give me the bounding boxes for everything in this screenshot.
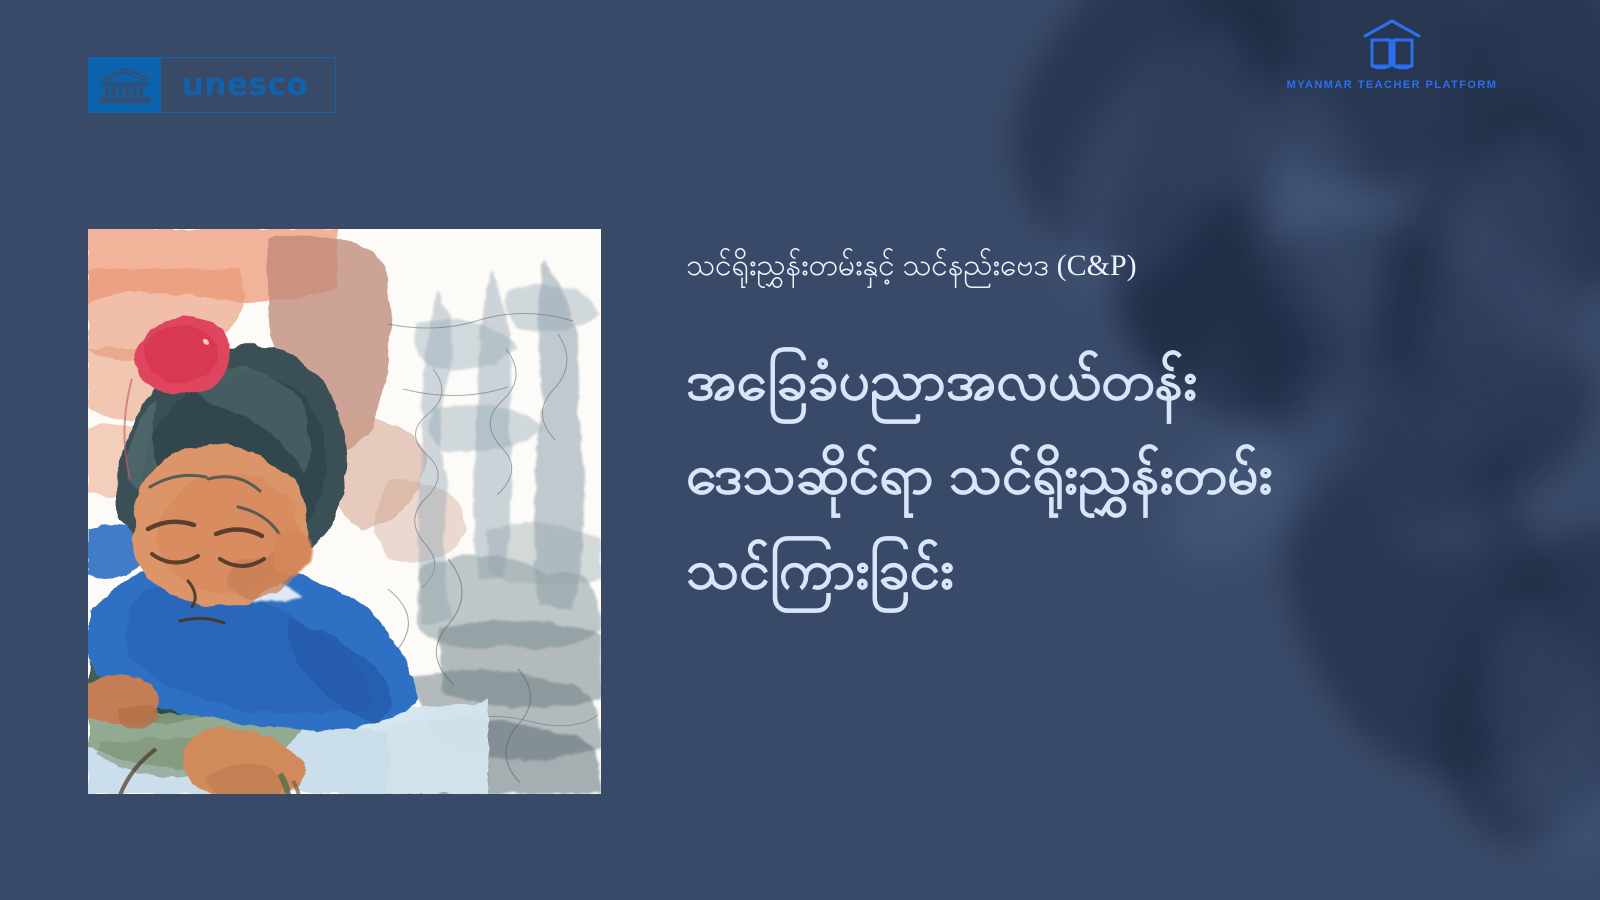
house-open-book-icon <box>1361 18 1423 70</box>
unesco-temple-emblem-icon <box>89 58 161 112</box>
page-title: အခြေခံပညာအလယ်တန်း ဒေသဆိုင်ရာ သင်ရိုးညွှန… <box>686 333 1506 617</box>
myanmar-teacher-platform-logo: MYANMAR TEACHER PLATFORM <box>1292 18 1492 91</box>
leaf-highlight <box>1460 589 1600 870</box>
page-title-line-2: ဒေသဆိုင်ရာ သင်ရိုးညွှန်းတမ်း <box>686 427 1506 522</box>
title-text-block: သင်ရိုးညွှန်းတမ်းနှင့် သင်နည်းဗေဒ (C&P) … <box>686 246 1506 616</box>
platform-logo-label: MYANMAR TEACHER PLATFORM <box>1287 79 1498 91</box>
unesco-logo: unesco <box>88 57 336 113</box>
course-subject-label: သင်ရိုးညွှန်းတမ်းနှင့် သင်နည်းဗေဒ (C&P) <box>686 246 1506 287</box>
page-title-line-3: သင်ကြားခြင်း <box>686 522 1506 617</box>
page-title-line-1: အခြေခံပညာအလယ်တန်း <box>686 333 1506 428</box>
cover-illustration <box>88 229 601 794</box>
slide-root: unesco MYANMAR TEACHER PLATFORM <box>0 0 1600 900</box>
unesco-wordmark-text: unesco <box>182 70 308 101</box>
unesco-wordmark: unesco <box>161 58 335 112</box>
